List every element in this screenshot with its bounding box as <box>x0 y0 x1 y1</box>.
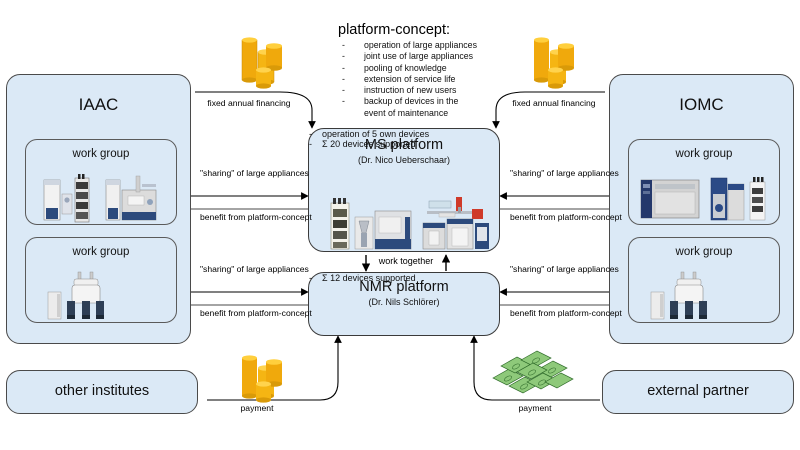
edge-label-benefit-left-1: benefit from platform-concept <box>200 212 300 222</box>
benchtop-analyzer-icon <box>629 172 781 222</box>
coin-stack-top-left-icon <box>232 26 290 92</box>
edge-label-financing-left: fixed annual financing <box>203 98 295 108</box>
nmr-platform-title: NMR platform <box>309 279 499 295</box>
work-group-left-2: work group <box>25 237 177 323</box>
work-group-right-2: work group <box>628 237 780 323</box>
edge-label-sharing-left-2: "sharing" of large appliances <box>200 264 300 274</box>
edge-label-benefit-left-2: benefit from platform-concept <box>200 308 300 318</box>
edge-label-sharing-left-1: "sharing" of large appliances <box>200 168 300 178</box>
banknote-pile-bottom-right-icon <box>487 348 573 402</box>
institute-left-iaac: IAAC work group <box>6 74 191 344</box>
concept-item: instruction of new users <box>338 85 477 96</box>
work-together-label: work together <box>366 256 446 267</box>
edge-label-benefit-right-1: benefit from platform-concept <box>510 212 610 222</box>
nmr-spectrometer-icon <box>629 268 781 320</box>
nmr-platform-lead: (Dr. Nils Schlörer) <box>309 297 499 307</box>
nmr-platform-box: NMR platform (Dr. Nils Schlörer) - Σ 12 … <box>308 272 500 336</box>
platform-concept-title: platform-concept: <box>338 22 477 38</box>
work-group-right-1-label: work group <box>629 148 779 160</box>
platform-concept-items: operation of large appliances joint use … <box>338 40 477 119</box>
edge-label-financing-right: fixed annual financing <box>508 98 600 108</box>
platform-concept-list: platform-concept: operation of large app… <box>338 22 477 119</box>
work-group-right-1: work group <box>628 139 780 225</box>
work-group-right-2-label: work group <box>629 246 779 258</box>
edge-label-payment-left: payment <box>212 403 302 413</box>
ms-platform-lead: (Dr. Nico Ueberschaar) <box>309 155 499 165</box>
external-partner-box: external partner <box>602 370 794 414</box>
other-institutes-box: other institutes <box>6 370 198 414</box>
institute-left-title: IAAC <box>7 95 190 115</box>
diagram-canvas: IAAC work group <box>0 0 800 450</box>
nmr-spectrometer-icon <box>26 268 178 320</box>
edge-label-payment-right: payment <box>490 403 580 413</box>
other-institutes-label: other institutes <box>7 383 197 399</box>
edge-label-sharing-right-2: "sharing" of large appliances <box>510 264 610 274</box>
coin-stack-bottom-left-icon <box>232 344 290 404</box>
concept-item: operation of large appliances <box>338 40 477 51</box>
arrow-payment-left <box>207 336 338 400</box>
institute-right-title: IOMC <box>610 95 793 115</box>
work-group-left-2-label: work group <box>26 246 176 258</box>
edge-label-sharing-right-1: "sharing" of large appliances <box>510 168 610 178</box>
ms-platform-title: MS platform <box>309 137 499 153</box>
work-group-left-1: work group <box>25 139 177 225</box>
concept-item: joint use of large appliances <box>338 51 477 62</box>
concept-item: extension of service life <box>338 74 477 85</box>
coin-stack-top-right-icon <box>524 26 582 92</box>
arrow-payment-right <box>474 336 600 400</box>
external-partner-label: external partner <box>603 383 793 399</box>
work-group-left-1-label: work group <box>26 148 176 160</box>
concept-item: backup of devices in the event of mainte… <box>338 96 477 119</box>
edge-label-benefit-right-2: benefit from platform-concept <box>510 308 610 318</box>
chromatography-mass-spectrometer-icon <box>26 172 178 222</box>
ms-platform-instruments-icon <box>309 197 501 251</box>
concept-item: pooling of knowledge <box>338 63 477 74</box>
ms-platform-box: MS platform (Dr. Nico Ueberschaar) - ope… <box>308 128 500 252</box>
institute-right-iomc: IOMC work group <box>609 74 794 344</box>
